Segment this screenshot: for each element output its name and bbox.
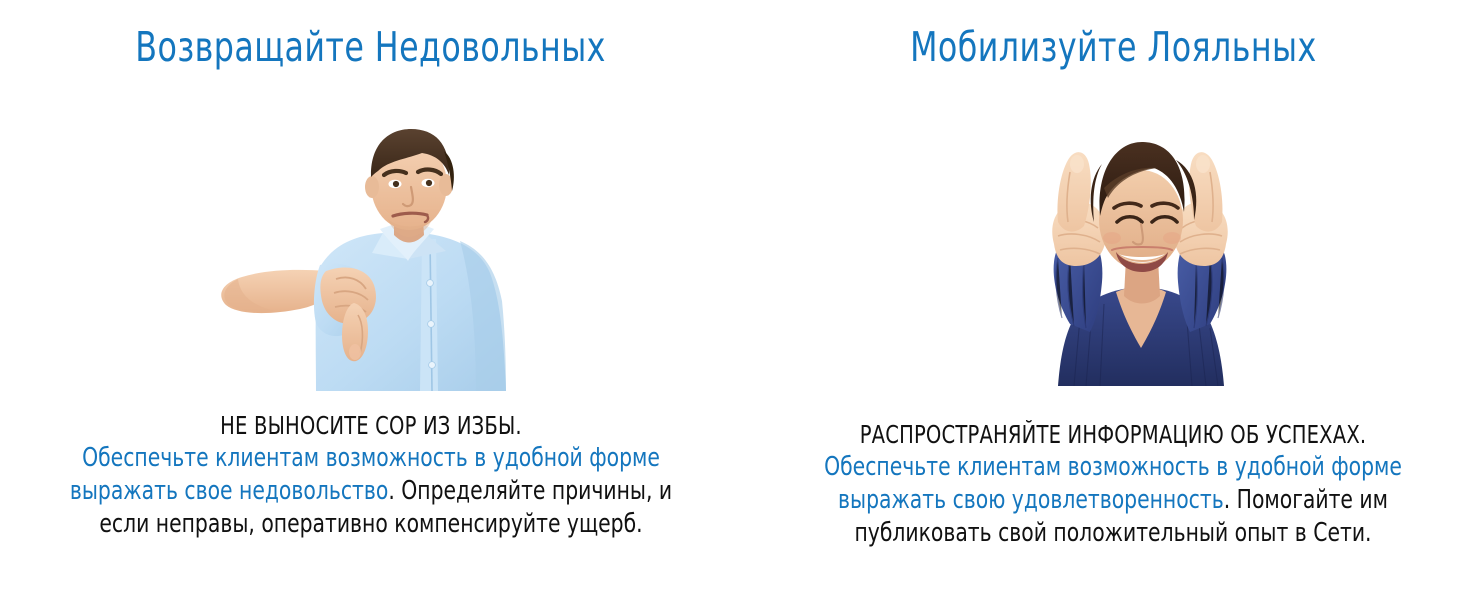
woman-thumbs-up-photo	[962, 112, 1318, 386]
caption-right-line-4: публиковать свой положительный опыт в Се…	[809, 517, 1418, 550]
caption-right-line-4-plain: публиковать свой положительный опыт в Се…	[854, 518, 1371, 548]
caption-left: НЕ ВЫНОСИТЕ СОР ИЗ ИЗБЫ. Обеспечьте клие…	[21, 409, 721, 541]
caption-left-line-3: выражать свое недовольство. Определяйте …	[67, 475, 676, 508]
panel-mobilize-loyal: Мобилизуйте Лояльных	[742, 0, 1484, 596]
slide-root: Возвращайте Недовольных	[0, 0, 1484, 596]
panel-returning-dissatisfied: Возвращайте Недовольных	[0, 0, 742, 596]
caption-right-line-3-plain: . Помогайте им	[1224, 485, 1388, 515]
panel-title-right: Мобилизуйте Лояльных	[910, 27, 1317, 68]
caption-left-line-2: Обеспечьте клиентам возможность в удобно…	[67, 442, 676, 475]
caption-right-line-2-accent: Обеспечьте клиентам возможность в удобно…	[824, 452, 1402, 482]
photo-wrap-right	[742, 112, 1484, 386]
caption-right-line-3-accent: выражать свою удовлетворенность	[838, 485, 1224, 515]
caption-left-headline: НЕ ВЫНОСИТЕ СОР ИЗ ИЗБЫ.	[67, 409, 676, 442]
man-thumbs-down-photo	[208, 119, 538, 391]
caption-left-line-3-accent: выражать свое недовольство	[70, 476, 388, 506]
photo-wrap-left	[0, 119, 742, 391]
caption-right-line-3: выражать свою удовлетворенность. Помогай…	[809, 484, 1418, 517]
caption-left-line-4-plain: если неправы, оперативно компенсируйте у…	[99, 509, 642, 539]
caption-left-line-3-plain: . Определяйте причины, и	[388, 476, 672, 506]
caption-right: РАСПРОСТРАНЯЙТЕ ИНФОРМАЦИЮ ОБ УСПЕХАХ. О…	[763, 418, 1463, 550]
caption-right-line-2: Обеспечьте клиентам возможность в удобно…	[809, 451, 1418, 484]
caption-left-line-2-accent: Обеспечьте клиентам возможность в удобно…	[82, 443, 660, 473]
caption-right-headline: РАСПРОСТРАНЯЙТЕ ИНФОРМАЦИЮ ОБ УСПЕХАХ.	[809, 418, 1418, 451]
panel-title-left: Возвращайте Недовольных	[136, 27, 607, 68]
caption-left-line-4: если неправы, оперативно компенсируйте у…	[67, 508, 676, 541]
